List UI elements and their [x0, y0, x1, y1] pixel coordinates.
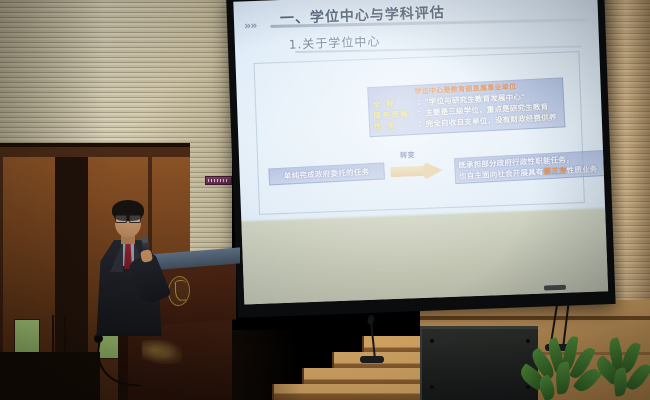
screen-pull-handle: [544, 285, 566, 291]
flow-box-before: 单纯完成政府委托的任务: [268, 162, 385, 185]
slide-content-panel: 学位中心是教育部直属事业单位 全 称 ："学位与研究生教育发展中心" 服务范围 …: [254, 51, 585, 215]
wall-sign: [205, 176, 232, 185]
stage-back-trim: [420, 316, 650, 320]
info-box: 学位中心是教育部直属事业单位 全 称 ："学位与研究生教育发展中心" 服务范围 …: [367, 77, 565, 137]
flow-box-after: 既承担部分政府行政性职能任务， 也自主面向社会开展具有第三方性质业务: [454, 150, 608, 185]
speaker-person: [88, 196, 178, 336]
glasses-icon: [115, 215, 141, 221]
flow-arrow-icon: [390, 160, 443, 182]
lecture-hall-photo: »» 一、学位中心与学科评估 1.关于学位中心 学位中心是教育部直属事业单位 全…: [0, 0, 650, 400]
slide-chevron-icon: »»: [244, 19, 257, 32]
floor-shadow-left: [0, 352, 100, 400]
flow-highlight-text: 第三方: [543, 166, 567, 176]
screen-lower-band: [241, 209, 608, 304]
flow-arrow-label: 转变: [400, 150, 415, 161]
projection-screen-surface: »» 一、学位中心与学科评估 1.关于学位中心 学位中心是教育部直属事业单位 全…: [233, 0, 608, 305]
stage-shadow: [232, 330, 302, 400]
info-row-key: 性 质: [374, 120, 418, 132]
projection-screen-frame: »» 一、学位中心与学科评估 1.关于学位中心 学位中心是教育部直属事业单位 全…: [226, 0, 616, 318]
potted-plant-right: [600, 338, 650, 400]
podium-gold-marking: [142, 340, 182, 364]
presentation-slide: »» 一、学位中心与学科评估 1.关于学位中心 学位中心是教育部直属事业单位 全…: [233, 0, 605, 230]
potted-plant-left: [520, 336, 604, 400]
flow-box-before-label: 单纯完成政府委托的任务: [284, 166, 370, 181]
gooseneck-microphone-base: [360, 356, 384, 363]
